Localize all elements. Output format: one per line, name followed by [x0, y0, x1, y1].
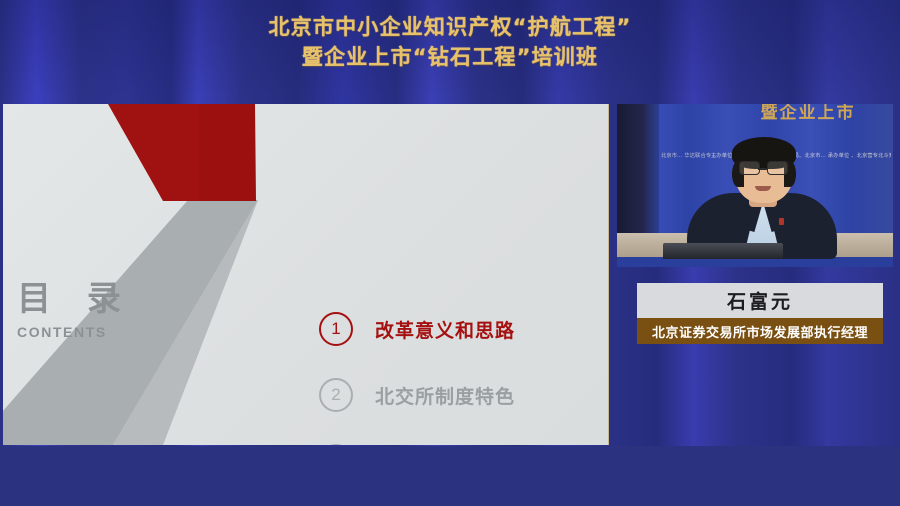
toc-heading-cn: 目 录 — [17, 280, 197, 318]
agenda-number-circle-3: 3 — [319, 444, 353, 445]
speaker-figure — [687, 141, 837, 259]
laptop — [663, 243, 783, 259]
table-of-contents-heading: 目 录 CONTENTS — [17, 280, 197, 342]
agenda-item-3[interactable]: 3 市场情况和改革方向 — [319, 428, 599, 445]
agenda-label-2: 北交所制度特色 — [375, 382, 515, 409]
backdrop-banner-text: 暨企业上市 — [713, 104, 893, 124]
speaker-name: 石富元 — [637, 283, 883, 318]
glasses-lens-right-icon — [767, 161, 788, 175]
speaker-mouth — [755, 186, 771, 191]
agenda-number-circle-1: 1 — [319, 312, 353, 346]
speaker-nameplate: 石富元 北京证券交易所市场发展部执行经理 — [637, 283, 883, 344]
agenda-item-1[interactable]: 1 改革意义和思路 — [319, 296, 599, 362]
toc-heading-en: CONTENTS — [17, 322, 197, 342]
background-top-shade — [0, 0, 900, 96]
agenda-list: 1 改革意义和思路 2 北交所制度特色 3 市场情况和改革方向 — [319, 296, 599, 445]
agenda-label-1: 改革意义和思路 — [375, 316, 515, 343]
background-bottom-panel — [0, 446, 900, 506]
agenda-number-circle-2: 2 — [319, 378, 353, 412]
speaker-video-feed[interactable]: 暨企业上市 北京市… 华达联合专… 主办单位 北京市地方金融监督管理局、北京市…… — [617, 104, 893, 267]
speaker-lapel-pin — [779, 218, 784, 225]
screen: 北京市中小企业知识产权“护航工程” 暨企业上市“钻石工程”培训班 目 录 CON… — [0, 0, 900, 506]
agenda-item-2[interactable]: 2 北交所制度特色 — [319, 362, 599, 428]
speaker-title: 北京证券交易所市场发展部执行经理 — [637, 318, 883, 344]
presentation-slide[interactable]: 目 录 CONTENTS 1 改革意义和思路 2 北交所制度特色 3 市场情况和… — [3, 104, 609, 445]
glasses-lens-left-icon — [739, 161, 760, 175]
glasses-bridge-icon — [758, 168, 767, 170]
